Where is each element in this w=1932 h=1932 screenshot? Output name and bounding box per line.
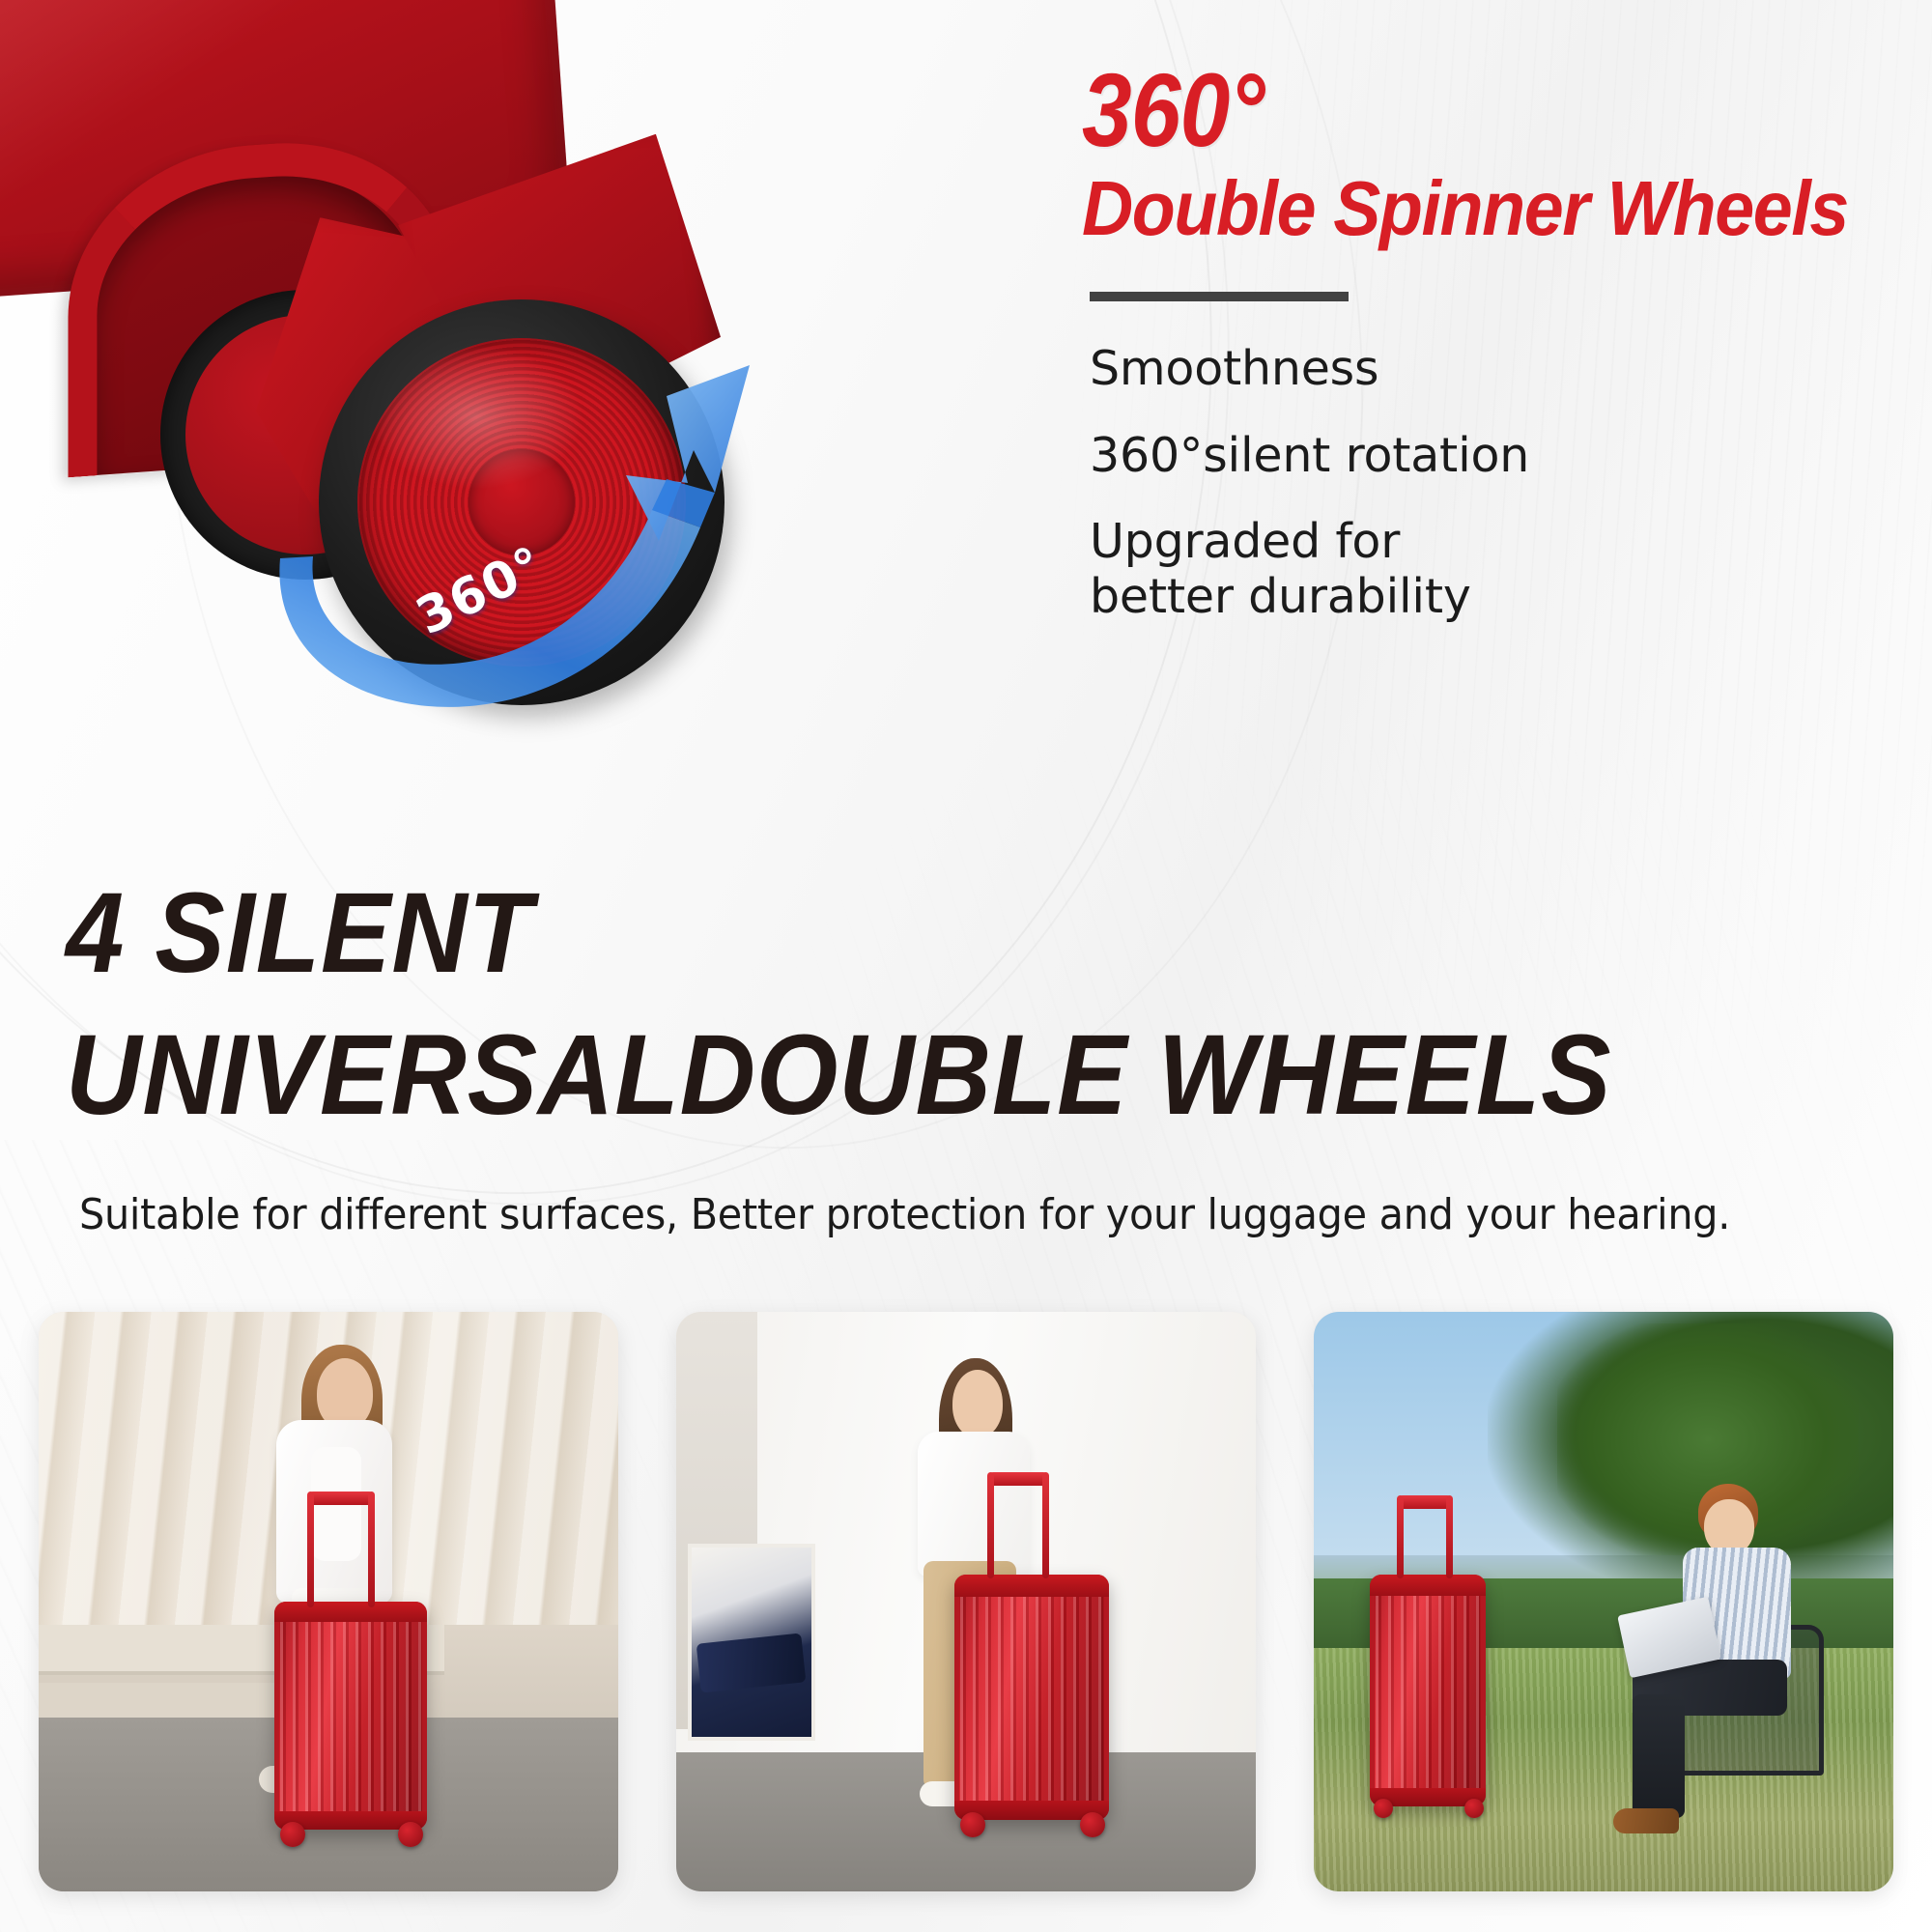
card1-suitcase-handle [307, 1492, 375, 1607]
card2-handle-post-left [987, 1472, 994, 1578]
card2-handle-bar [987, 1472, 1049, 1486]
card2-suitcase [954, 1575, 1109, 1820]
headline-line-1: 4 SILENT [66, 869, 1577, 998]
card1-model-head [317, 1358, 373, 1430]
card2-model-head [952, 1370, 1003, 1437]
card3-handle-bar [1397, 1495, 1453, 1509]
card2-suitcase-body [954, 1575, 1109, 1820]
card3-handle-post-left [1397, 1495, 1404, 1578]
kicker-360: 360° [1082, 58, 1772, 162]
title-divider [1090, 292, 1349, 301]
card2-suitcase-wheel-right [1080, 1812, 1105, 1837]
headline-line-2: UNIVERSALDOUBLE WHEELS [66, 1011, 1577, 1140]
feature-item-durability-line2: better durability [1090, 569, 1884, 625]
gallery-card-3[interactable] [1314, 1312, 1893, 1891]
card1-handle-bar [307, 1492, 375, 1505]
card1-handle-post-right [368, 1492, 375, 1607]
gallery-card-1[interactable] [39, 1312, 618, 1891]
card3-handle-post-right [1446, 1495, 1453, 1578]
rotation-arrow-icon [213, 251, 811, 753]
card3-model-leg [1633, 1694, 1685, 1818]
gallery-row [0, 1312, 1932, 1911]
gallery-card-2[interactable] [676, 1312, 1256, 1891]
headline-block: 4 SILENT UNIVERSALDOUBLE WHEELS [66, 869, 1708, 1141]
feature-panel: 360° Double Spinner Wheels Smoothness 36… [1082, 58, 1884, 654]
card1-handle-post-left [307, 1492, 314, 1607]
card3-suitcase-handle [1397, 1495, 1453, 1578]
card3-suitcase [1370, 1575, 1486, 1806]
product-banner: 360° 360° Double Spinner Wheels Smoothne… [0, 0, 1932, 1932]
feature-item-durability: Upgraded for better durability [1090, 514, 1884, 626]
feature-item-smoothness: Smoothness [1090, 340, 1884, 398]
card2-suitcase-wheel-left [960, 1812, 985, 1837]
card3-suitcase-body [1370, 1575, 1486, 1806]
card3-model-shoe [1613, 1808, 1679, 1833]
kicker-subtitle: Double Spinner Wheels [1082, 168, 1820, 249]
card1-suitcase-wheel-right [398, 1822, 423, 1847]
feature-item-durability-line1: Upgraded for [1090, 514, 1884, 570]
card3-suitcase-wheel-left [1374, 1799, 1393, 1818]
feature-list: Smoothness 360°silent rotation Upgraded … [1082, 340, 1884, 625]
card1-suitcase-wheel-left [280, 1822, 305, 1847]
headline-subline: Suitable for different surfaces, Better … [79, 1190, 1730, 1239]
feature-item-silent-rotation: 360°silent rotation [1090, 427, 1884, 485]
card2-suitcase-handle [987, 1472, 1049, 1578]
card3-suitcase-wheel-right [1464, 1799, 1484, 1818]
card1-suitcase [274, 1602, 427, 1830]
card2-handle-post-right [1042, 1472, 1049, 1578]
card2-wall-art [688, 1544, 815, 1741]
card1-suitcase-body [274, 1602, 427, 1830]
